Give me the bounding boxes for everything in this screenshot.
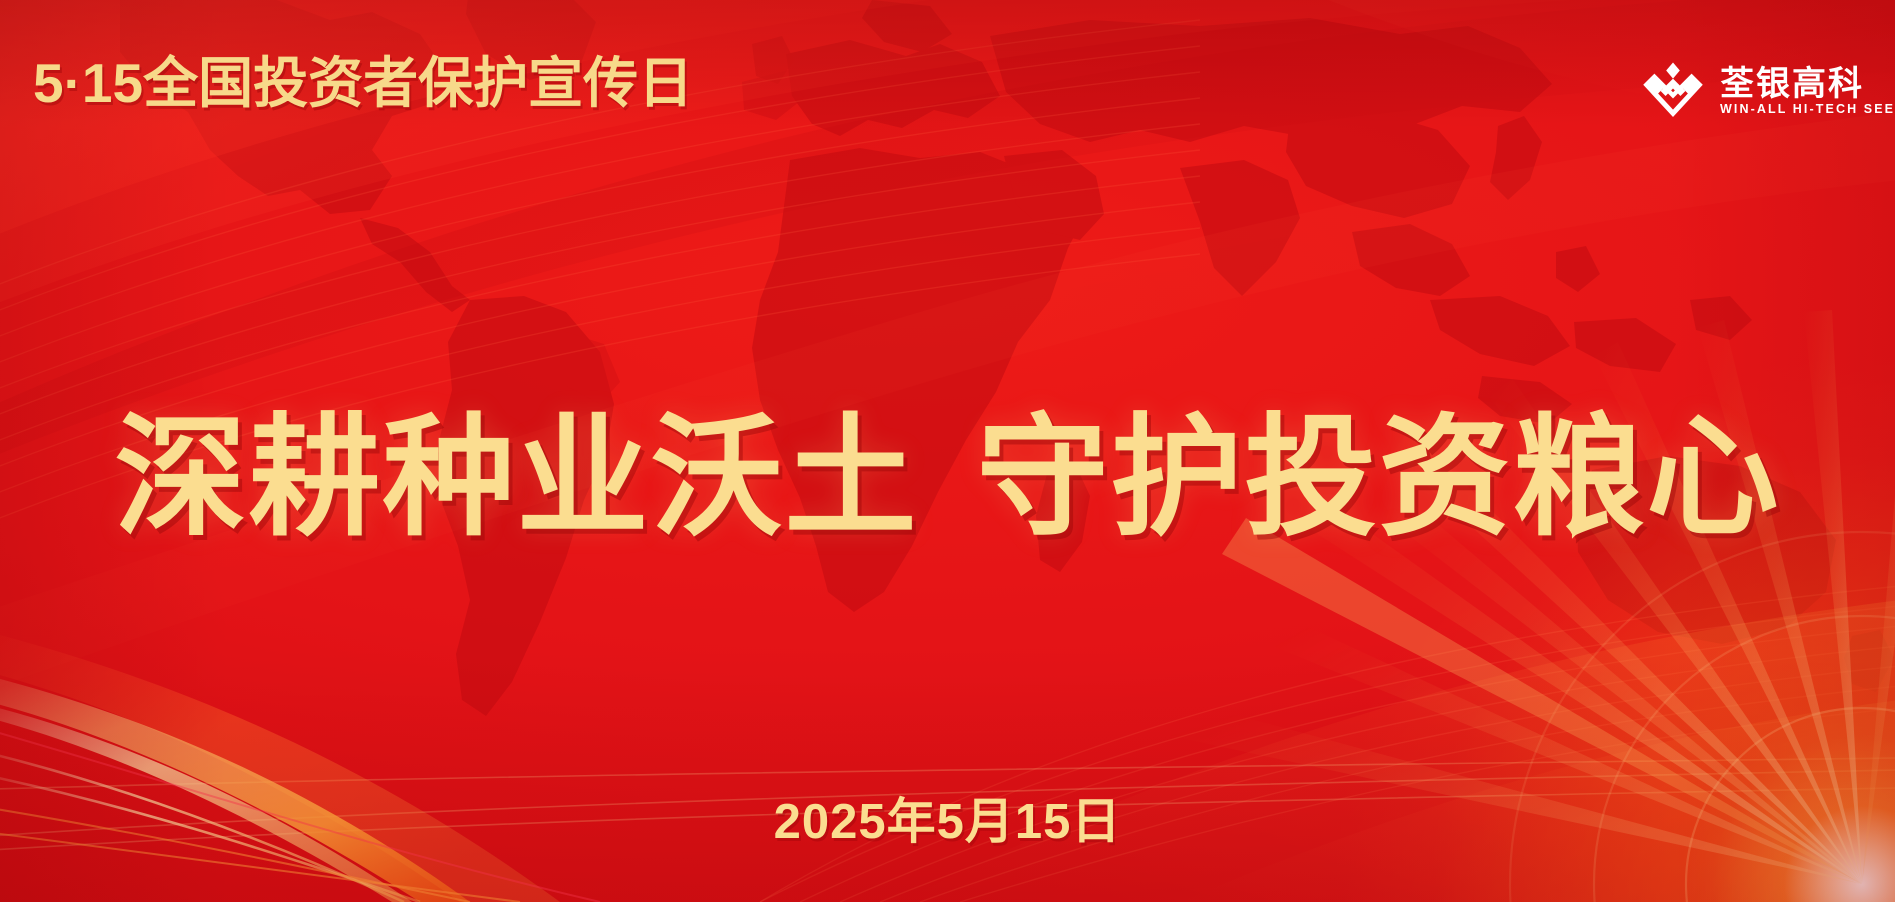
brand-logo: 荃银高科 WIN-ALL HI-TECH SEED: [1642, 60, 1895, 122]
poster-canvas: 5·15全国投资者保护宣传日 荃银高科 WIN-ALL HI-TECH SEED…: [0, 0, 1895, 902]
event-date: 2025年5月15日: [0, 798, 1895, 847]
brand-name-cn: 荃银高科: [1720, 67, 1864, 101]
chevron-diamond-logo-icon: [1642, 60, 1704, 122]
main-title: 深耕种业沃土守护投资粮心: [0, 404, 1895, 552]
brand-text: 荃银高科 WIN-ALL HI-TECH SEED: [1720, 67, 1895, 116]
brand-name-en: WIN-ALL HI-TECH SEED: [1720, 103, 1895, 116]
campaign-headline: 5·15全国投资者保护宣传日: [33, 56, 693, 111]
main-title-part-1: 深耕种业沃土: [115, 404, 919, 551]
main-title-part-2: 守护投资粮心: [977, 404, 1781, 551]
